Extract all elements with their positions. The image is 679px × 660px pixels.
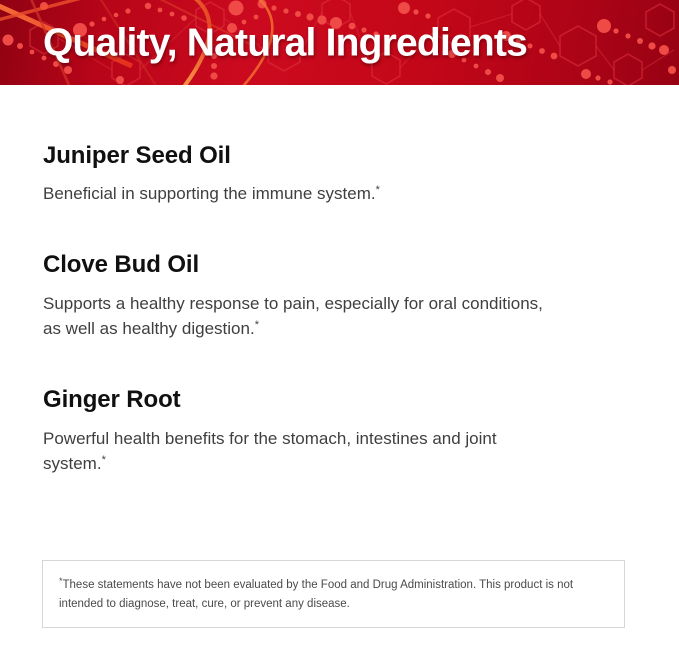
disclaimer-body: These statements have not been evaluated… — [59, 579, 573, 610]
ingredient-name: Clove Bud Oil — [43, 252, 636, 278]
ingredient-description: Supports a healthy response to pain, esp… — [43, 291, 563, 343]
ingredient-description-text: Supports a healthy response to pain, esp… — [43, 294, 543, 339]
disclaimer-box: *These statements have not been evaluate… — [42, 560, 625, 628]
ingredients-infographic: Quality, Natural Ingredients Juniper See… — [0, 0, 679, 660]
header-banner: Quality, Natural Ingredients — [0, 0, 679, 85]
ingredient-item: Juniper Seed Oil Beneficial in supportin… — [0, 143, 679, 207]
ingredient-description: Beneficial in supporting the immune syst… — [43, 181, 563, 207]
ingredient-item: Ginger Root Powerful health benefits for… — [0, 387, 679, 477]
ingredients-list: Juniper Seed Oil Beneficial in supportin… — [0, 85, 679, 477]
ingredient-item: Clove Bud Oil Supports a healthy respons… — [0, 252, 679, 342]
ingredient-name: Juniper Seed Oil — [43, 143, 636, 169]
footnote-marker: * — [376, 184, 380, 196]
ingredient-description-text: Beneficial in supporting the immune syst… — [43, 184, 376, 203]
ingredient-name: Ginger Root — [43, 387, 636, 413]
ingredient-description-text: Powerful health benefits for the stomach… — [43, 429, 497, 474]
footnote-marker: * — [102, 454, 106, 466]
disclaimer-text: *These statements have not been evaluate… — [59, 574, 608, 613]
footnote-marker: * — [255, 319, 259, 331]
banner-title: Quality, Natural Ingredients — [43, 23, 527, 62]
ingredient-description: Powerful health benefits for the stomach… — [43, 426, 563, 478]
